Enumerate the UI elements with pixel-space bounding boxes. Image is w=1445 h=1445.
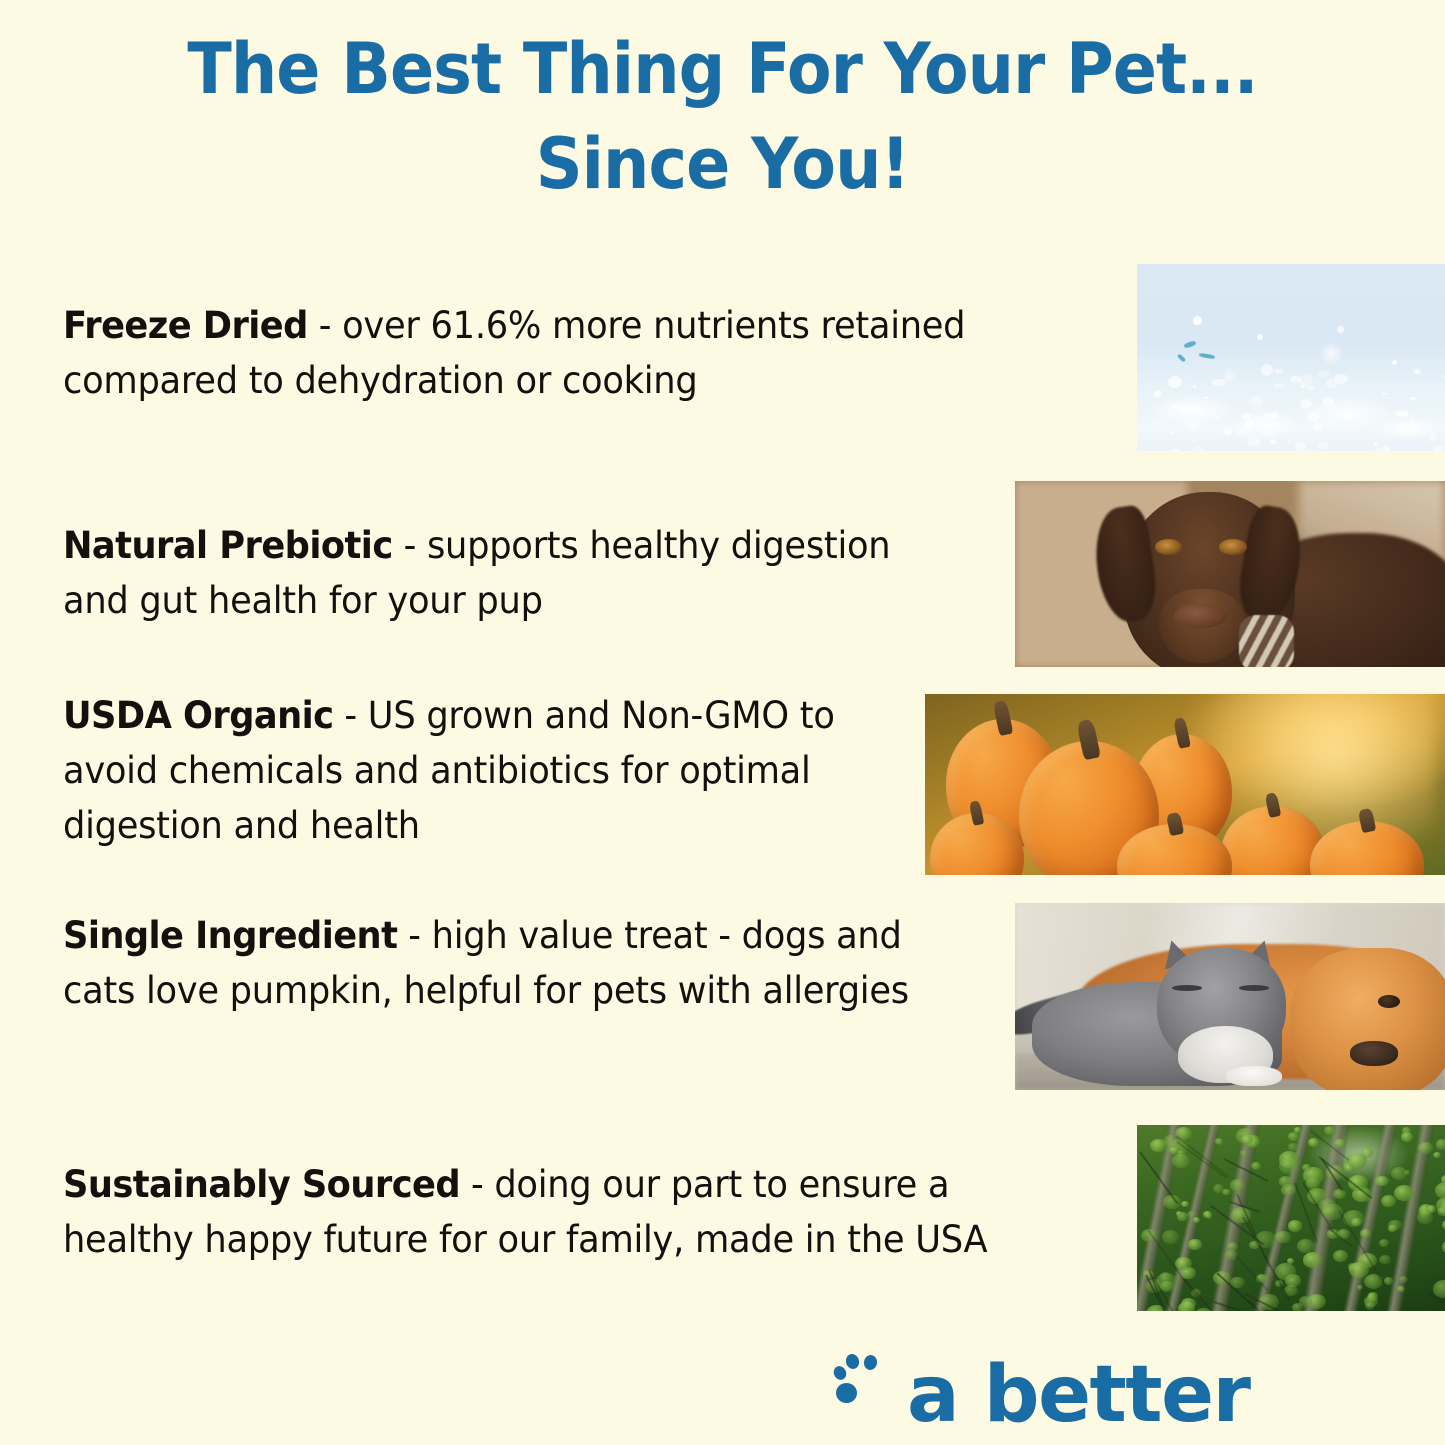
ice-crystal [1288, 439, 1292, 442]
forest-leaf [1399, 1276, 1408, 1283]
chocolate-labrador-photo [1015, 481, 1445, 667]
ice-crystal [1326, 378, 1337, 389]
forest-leaf [1333, 1250, 1348, 1262]
dog-nose [1174, 604, 1226, 628]
cat-eye-left [1172, 985, 1202, 991]
forest-leaf [1357, 1285, 1364, 1290]
forest-leaf [1334, 1139, 1345, 1148]
ice-crystal [1244, 424, 1251, 429]
forest-leaf [1215, 1138, 1223, 1145]
forest-leaf [1288, 1143, 1297, 1150]
ice-crystal [1184, 375, 1189, 378]
feature-item-single-ingredient: Single Ingredient - high value treat - d… [63, 908, 947, 1018]
dog-collar [1239, 615, 1295, 667]
forest-leaf [1303, 1252, 1322, 1267]
ice-crystal [1375, 448, 1381, 451]
forest-leaf [1172, 1154, 1190, 1169]
feature-separator: - [333, 693, 367, 737]
forest-leaf [1162, 1230, 1180, 1244]
feature-title: Freeze Dried [63, 303, 308, 347]
ice-crystal [1382, 393, 1387, 396]
ice-crystal [1193, 385, 1196, 388]
ice-crystal [1168, 449, 1181, 451]
ice-crystal [1318, 442, 1328, 449]
forest-leaf [1181, 1298, 1196, 1310]
forest-leaf [1302, 1164, 1311, 1171]
headline-line-2: Since You! [51, 117, 1395, 212]
feature-separator: - [460, 1162, 494, 1206]
feature-item-usda-organic: USDA Organic - US grown and Non-GMO to a… [63, 688, 914, 853]
forest-leaf [1367, 1293, 1376, 1300]
ice-crystal [1343, 412, 1353, 421]
ice-crystal [1212, 379, 1226, 386]
forest-leaf [1347, 1153, 1367, 1169]
forest-leaf [1435, 1182, 1445, 1199]
forest-leaf [1187, 1211, 1196, 1218]
forest-leaf [1176, 1211, 1182, 1216]
forest-leaf [1437, 1207, 1445, 1216]
ice-crystal [1375, 435, 1378, 437]
feature-separator: - [308, 303, 342, 347]
ice-crystal [1433, 446, 1444, 451]
forest-leaf [1181, 1201, 1188, 1207]
forest-leaf [1241, 1135, 1253, 1144]
ice-crystal [1318, 371, 1330, 377]
forest-leaf [1193, 1217, 1200, 1223]
ice-crystal [1171, 404, 1179, 408]
page-title: The Best Thing For Your Pet... Since You… [51, 22, 1395, 212]
green-forest-photo [1137, 1125, 1445, 1311]
ice-sparkle [1392, 360, 1397, 365]
ice-crystal [1242, 413, 1251, 419]
forest-leaf [1324, 1126, 1336, 1136]
feature-title: Natural Prebiotic [63, 523, 393, 567]
ice-crystal [1271, 411, 1279, 418]
forest-leaf [1297, 1239, 1314, 1252]
ice-crystal [1274, 369, 1283, 374]
feature-title: Single Ingredient [63, 913, 397, 957]
feature-item-sustainably-sourced: Sustainably Sourced - doing our part to … [63, 1157, 1059, 1267]
feature-item-freeze-dried: Freeze Dried - over 61.6% more nutrients… [63, 298, 1003, 408]
ice-crystal [1413, 369, 1421, 374]
forest-leaf [1397, 1286, 1404, 1292]
ice-crystal [1204, 397, 1208, 399]
forest-leaf [1418, 1142, 1433, 1154]
ice-sparkle [1193, 316, 1202, 325]
ice-crystal [1382, 445, 1390, 451]
ice-crystal [1273, 383, 1286, 390]
paw-print-icon [833, 1354, 893, 1408]
ice-crystal [1187, 422, 1198, 431]
paw-toe [844, 1352, 861, 1370]
ice-crystal [1284, 426, 1289, 429]
dog-eye-right [1219, 539, 1247, 556]
forest-leaf [1442, 1240, 1445, 1254]
forest-leaf [1375, 1176, 1388, 1187]
brand-wordmark: a better treat [907, 1352, 1433, 1445]
ice-crystal [1261, 364, 1273, 376]
ice-crystal [1300, 399, 1312, 408]
ice-crystal [1263, 430, 1272, 439]
paw-toe [863, 1354, 878, 1371]
forest-leaf [1288, 1220, 1303, 1232]
ice-crystal [1193, 446, 1203, 451]
ice-crystal [1308, 412, 1319, 422]
ice-crystal [1171, 431, 1174, 434]
forest-leaf [1379, 1255, 1391, 1264]
forest-leaf [1441, 1175, 1445, 1184]
forest-leaf [1251, 1162, 1261, 1170]
ice-chip [1199, 353, 1215, 360]
forest-leaf [1203, 1211, 1212, 1218]
ice-crystal [1299, 374, 1313, 388]
ice-crystal [1313, 423, 1322, 431]
cat-and-dog-photo [1015, 903, 1445, 1090]
forest-leaf [1287, 1258, 1294, 1264]
forest-leaf [1279, 1176, 1292, 1187]
forest-leaf [1436, 1139, 1445, 1149]
forest-leaf [1333, 1189, 1346, 1199]
ice-crystal [1236, 427, 1250, 436]
forest-leaf [1394, 1185, 1414, 1201]
forest-leaf [1379, 1239, 1389, 1247]
feature-title: USDA Organic [63, 693, 333, 737]
golden-retriever-eye [1378, 995, 1400, 1008]
ice-crystal [1374, 442, 1378, 446]
paw-pad [836, 1383, 857, 1403]
forest-leaf [1381, 1195, 1396, 1207]
forest-leaf [1230, 1179, 1245, 1191]
feature-title: Sustainably Sourced [63, 1162, 460, 1206]
ice-crystal [1168, 376, 1181, 388]
cat-paw [1226, 1066, 1282, 1087]
ice-crystal [1180, 406, 1191, 416]
brand-logo: a better treat [833, 1352, 1433, 1438]
paw-toe [831, 1364, 848, 1382]
feature-item-natural-prebiotic: Natural Prebiotic - supports healthy dig… [63, 518, 942, 628]
forest-leaf [1175, 1257, 1192, 1270]
ice-chip [1177, 354, 1186, 363]
golden-retriever-nose [1350, 1041, 1397, 1065]
ice-crystal [1223, 427, 1233, 435]
ice-sparkle [1257, 334, 1263, 340]
ice-crystal [1322, 397, 1334, 405]
forest-leaf [1279, 1158, 1299, 1174]
ice-crystal [1152, 419, 1160, 424]
forest-leaf [1275, 1231, 1291, 1244]
forest-leaf [1240, 1150, 1249, 1157]
ice-sparkle [1337, 326, 1344, 333]
forest-leaf [1294, 1127, 1301, 1132]
ice-crystal [1247, 436, 1261, 446]
ice-crystal [1410, 397, 1415, 400]
ice-crystal [1250, 396, 1263, 406]
golden-retriever-head [1290, 948, 1445, 1090]
headline-line-1: The Best Thing For Your Pet... [187, 28, 1257, 110]
ice-crystal [1270, 439, 1276, 444]
forest-leaf [1388, 1220, 1401, 1231]
feature-separator: - [393, 523, 427, 567]
forest-leaf [1401, 1132, 1413, 1142]
ice-chip [1184, 340, 1197, 348]
forest-leaf [1365, 1302, 1375, 1310]
ice-crystal [1409, 419, 1414, 422]
forest-leaf [1433, 1152, 1440, 1158]
forest-leaf [1222, 1189, 1230, 1195]
pumpkins-photo [925, 694, 1445, 875]
cat-eye-right [1239, 985, 1269, 991]
ice-crystal [1395, 410, 1408, 418]
forest-leaf [1427, 1205, 1437, 1213]
forest-leaf [1160, 1272, 1171, 1281]
forest-leaf [1308, 1138, 1319, 1147]
infographic-page: The Best Thing For Your Pet... Since You… [0, 0, 1445, 1445]
ice-crystal [1217, 416, 1220, 419]
ice-crystals-photo [1137, 264, 1445, 451]
ice-crystal [1302, 449, 1313, 451]
forest-leaf [1391, 1167, 1407, 1180]
ice-crystal [1154, 390, 1162, 397]
forest-leaf [1188, 1239, 1202, 1250]
feature-separator: - [397, 913, 431, 957]
ice-crystal [1429, 434, 1436, 441]
